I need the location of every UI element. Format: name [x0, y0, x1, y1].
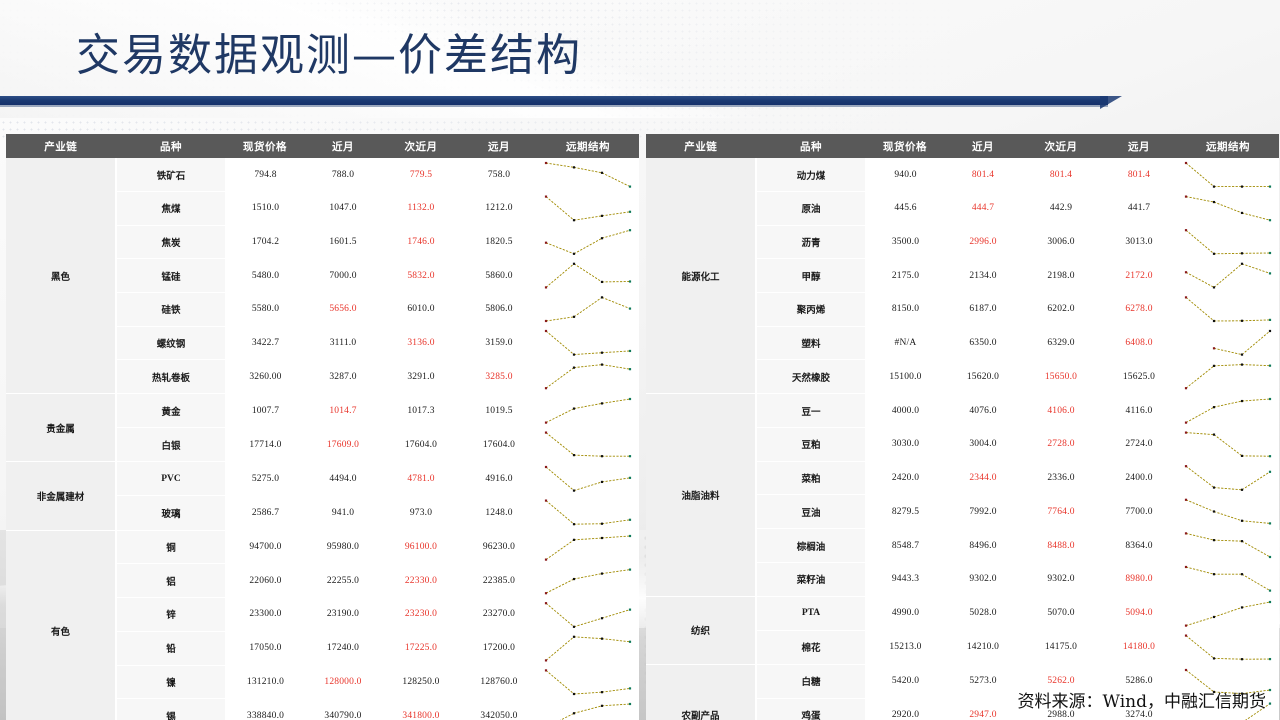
price-cell-spot[interactable]: 2175.0 — [866, 259, 944, 293]
price-cell-spot[interactable]: #N/A — [866, 326, 944, 360]
sparkline-marker — [573, 490, 575, 492]
price-cell-sub-far[interactable]: 96100.0 — [382, 530, 460, 564]
sparkline-marker — [1185, 634, 1187, 636]
table-row[interactable]: 非金属建材PVC5275.04494.04781.04916.0 — [6, 462, 638, 496]
price-cell-spot[interactable]: 5420.0 — [866, 664, 944, 698]
price-cell-far[interactable]: 4916.0 — [460, 462, 538, 496]
price-cell-far[interactable]: 5094.0 — [1100, 596, 1178, 630]
sparkline-segment — [1214, 607, 1242, 617]
sparkline-marker — [629, 455, 631, 457]
sparkline-marker — [1185, 195, 1187, 197]
variety-cell[interactable]: 白糖 — [756, 664, 866, 698]
sparkline-segment — [574, 365, 602, 368]
price-cell-near[interactable]: 2134.0 — [944, 259, 1022, 293]
sparkline-marker — [545, 242, 547, 244]
price-cell-near[interactable]: 3004.0 — [944, 427, 1022, 461]
variety-cell[interactable]: 热轧卷板 — [116, 360, 226, 394]
col-header-structure[interactable]: 远期结构 — [538, 134, 638, 158]
price-cell-far[interactable]: 2400.0 — [1100, 461, 1178, 495]
variety-cell[interactable]: 镍 — [116, 665, 226, 699]
price-cell-far[interactable]: 96230.0 — [460, 530, 538, 564]
sparkline-marker — [573, 692, 575, 694]
price-cell-sub-far[interactable]: 2728.0 — [1022, 427, 1100, 461]
price-cell-far[interactable]: 8364.0 — [1100, 529, 1178, 563]
col-header-variety[interactable]: 品种 — [116, 134, 226, 158]
sparkline-marker — [629, 640, 631, 642]
price-spread-table-left: 产业链 品种 现货价格 近月 次近月 远月 远期结构 黑色铁矿石794.8788… — [6, 134, 639, 720]
price-cell-sub-far[interactable]: 1132.0 — [382, 192, 460, 226]
sparkline-marker — [601, 352, 603, 354]
variety-cell[interactable]: 原油 — [756, 192, 866, 226]
sparkline-marker — [1185, 229, 1187, 231]
price-cell-spot[interactable]: 5580.0 — [226, 293, 304, 327]
variety-cell[interactable]: 豆粕 — [756, 427, 866, 461]
sparkline-segment — [546, 409, 574, 423]
price-cell-near[interactable]: 5273.0 — [944, 664, 1022, 698]
price-cell-far[interactable]: 1248.0 — [460, 496, 538, 530]
sparkline-marker — [1185, 432, 1187, 434]
sparkline-marker — [573, 263, 575, 265]
variety-cell[interactable]: 焦煤 — [116, 192, 226, 226]
sparkline-segment — [1214, 658, 1242, 659]
price-cell-spot[interactable]: 338840.0 — [226, 699, 304, 720]
sparkline-marker — [601, 523, 603, 525]
sparkline-segment — [1214, 488, 1242, 490]
col-header-structure[interactable]: 远期结构 — [1178, 134, 1278, 158]
sparkline-marker — [1213, 253, 1215, 255]
variety-cell[interactable]: PTA — [756, 596, 866, 630]
sparkline-marker — [629, 398, 631, 400]
price-cell-spot[interactable]: 5480.0 — [226, 259, 304, 293]
price-cell-spot[interactable]: 1510.0 — [226, 192, 304, 226]
price-cell-spot[interactable]: 131210.0 — [226, 665, 304, 699]
sparkline-marker — [573, 219, 575, 221]
price-cell-far[interactable]: 1820.5 — [460, 225, 538, 259]
price-cell-far[interactable]: 6278.0 — [1100, 293, 1178, 327]
price-cell-near[interactable]: 6187.0 — [944, 293, 1022, 327]
sparkline-marker — [545, 286, 547, 288]
price-cell-spot[interactable]: 22060.0 — [226, 564, 304, 598]
price-cell-spot[interactable]: 17050.0 — [226, 631, 304, 665]
price-cell-sub-far[interactable]: 801.4 — [1022, 158, 1100, 192]
sparkline-segment — [574, 692, 602, 694]
sparkline-marker — [1241, 363, 1243, 365]
sparkline-marker — [1269, 601, 1271, 603]
variety-cell[interactable]: 豆油 — [756, 495, 866, 529]
sparkline-segment — [1186, 617, 1214, 626]
price-cell-near[interactable]: 95980.0 — [304, 530, 382, 564]
price-cell-near[interactable]: 15620.0 — [944, 360, 1022, 394]
variety-cell[interactable]: 锡 — [116, 699, 226, 720]
sparkline-marker — [1241, 540, 1243, 542]
variety-cell[interactable]: 玻璃 — [116, 496, 226, 530]
price-cell-sub-far[interactable]: 3006.0 — [1022, 225, 1100, 259]
price-cell-near[interactable]: 941.0 — [304, 496, 382, 530]
forward-structure-cell — [538, 394, 638, 462]
variety-cell[interactable]: 天然橡胶 — [756, 360, 866, 394]
sparkline-segment — [1214, 202, 1242, 213]
price-cell-far[interactable]: 801.4 — [1100, 158, 1178, 192]
price-cell-spot[interactable]: 5275.0 — [226, 462, 304, 496]
price-cell-sub-far[interactable]: 14175.0 — [1022, 630, 1100, 664]
variety-cell[interactable]: 菜籽油 — [756, 563, 866, 597]
variety-cell[interactable]: 棕榈油 — [756, 529, 866, 563]
variety-cell[interactable]: 铜 — [116, 530, 226, 564]
industry-chain-cell[interactable]: 有色 — [6, 530, 116, 720]
price-cell-sub-far[interactable]: 7764.0 — [1022, 495, 1100, 529]
variety-cell[interactable]: 豆一 — [756, 394, 866, 428]
sparkline-segment — [574, 573, 602, 578]
sparkline-marker — [1241, 185, 1243, 187]
price-cell-near[interactable]: 3287.0 — [304, 360, 382, 394]
col-header-subfar[interactable]: 次近月 — [382, 134, 460, 158]
price-cell-near[interactable]: 4494.0 — [304, 462, 382, 496]
price-cell-near[interactable]: 2947.0 — [944, 698, 1022, 720]
sparkline-segment — [1186, 534, 1214, 541]
variety-cell[interactable]: 甲醇 — [756, 259, 866, 293]
price-cell-spot[interactable]: 1704.2 — [226, 225, 304, 259]
price-cell-far[interactable]: 2724.0 — [1100, 427, 1178, 461]
price-cell-near[interactable]: 2996.0 — [944, 225, 1022, 259]
forward-curve-sparkline-group — [538, 531, 638, 720]
price-cell-far[interactable]: 22385.0 — [460, 564, 538, 598]
variety-cell[interactable]: 聚丙烯 — [756, 293, 866, 327]
price-cell-spot[interactable]: 15213.0 — [866, 630, 944, 664]
sparkline-segment — [1186, 433, 1214, 435]
variety-cell[interactable]: 焦炭 — [116, 225, 226, 259]
price-cell-sub-far[interactable]: 15650.0 — [1022, 360, 1100, 394]
price-cell-near[interactable]: 444.7 — [944, 192, 1022, 226]
variety-cell[interactable]: 铝 — [116, 564, 226, 598]
price-cell-far[interactable]: 1212.0 — [460, 192, 538, 226]
sparkline-marker — [601, 572, 603, 574]
sparkline-marker — [629, 608, 631, 610]
price-cell-near[interactable]: 7000.0 — [304, 259, 382, 293]
sparkline-marker — [545, 592, 547, 594]
table-row[interactable]: 贵金属黄金1007.71014.71017.31019.5 — [6, 394, 638, 428]
price-cell-far[interactable]: 4116.0 — [1100, 394, 1178, 428]
variety-cell[interactable]: 塑料 — [756, 326, 866, 360]
sparkline-marker — [545, 387, 547, 389]
table-row[interactable]: 黑色铁矿石794.8788.0779.5758.0 — [6, 158, 638, 192]
price-cell-near[interactable]: 2344.0 — [944, 461, 1022, 495]
price-cell-near[interactable]: 1014.7 — [304, 394, 382, 428]
price-cell-far[interactable]: 342050.0 — [460, 699, 538, 720]
price-cell-spot[interactable]: 940.0 — [866, 158, 944, 192]
sparkline-marker — [545, 500, 547, 502]
sparkline-segment — [574, 264, 602, 282]
price-cell-spot[interactable]: 3500.0 — [866, 225, 944, 259]
price-cell-spot[interactable]: 4990.0 — [866, 596, 944, 630]
sparkline-marker — [601, 637, 603, 639]
price-cell-sub-far[interactable]: 4781.0 — [382, 462, 460, 496]
variety-cell[interactable]: 黄金 — [116, 394, 226, 428]
variety-cell[interactable]: 鸡蛋 — [756, 698, 866, 720]
price-cell-spot[interactable]: 9443.3 — [866, 563, 944, 597]
price-cell-spot[interactable]: 15100.0 — [866, 360, 944, 394]
price-cell-far[interactable]: 17200.0 — [460, 631, 538, 665]
variety-cell[interactable]: 铁矿石 — [116, 158, 226, 192]
price-cell-sub-far[interactable]: 973.0 — [382, 496, 460, 530]
price-cell-near[interactable]: 4076.0 — [944, 394, 1022, 428]
price-cell-sub-far[interactable]: 3291.0 — [382, 360, 460, 394]
sparkline-marker — [573, 538, 575, 540]
variety-cell[interactable]: 锰硅 — [116, 259, 226, 293]
sparkline-segment — [602, 212, 630, 216]
industry-chain-cell[interactable]: 黑色 — [6, 158, 116, 394]
price-cell-far[interactable]: 3159.0 — [460, 326, 538, 360]
price-cell-near[interactable]: 5656.0 — [304, 293, 382, 327]
price-cell-near[interactable]: 14210.0 — [944, 630, 1022, 664]
price-cell-spot[interactable]: 2420.0 — [866, 461, 944, 495]
variety-cell[interactable]: 铅 — [116, 631, 226, 665]
variety-cell[interactable]: 沥青 — [756, 225, 866, 259]
industry-chain-cell[interactable]: 油脂油料 — [646, 394, 756, 597]
sparkline-segment — [1242, 264, 1270, 274]
price-cell-near[interactable]: 9302.0 — [944, 563, 1022, 597]
price-cell-sub-far[interactable]: 341800.0 — [382, 699, 460, 720]
price-cell-far[interactable]: 7700.0 — [1100, 495, 1178, 529]
industry-chain-cell[interactable]: 非金属建材 — [6, 462, 116, 530]
price-cell-near[interactable]: 22255.0 — [304, 564, 382, 598]
sparkline-segment — [602, 704, 630, 706]
col-header-far[interactable]: 远月 — [1100, 134, 1178, 158]
industry-chain-cell[interactable]: 贵金属 — [6, 394, 116, 462]
sparkline-marker — [1213, 406, 1215, 408]
price-cell-sub-far[interactable]: 5832.0 — [382, 259, 460, 293]
col-header-far[interactable]: 远月 — [460, 134, 538, 158]
price-cell-far[interactable]: 1019.5 — [460, 394, 538, 428]
sparkline-marker — [601, 402, 603, 404]
sparkline-segment — [1186, 366, 1214, 388]
price-cell-sub-far[interactable]: 1746.0 — [382, 225, 460, 259]
col-header-spot[interactable]: 现货价格 — [866, 134, 944, 158]
sparkline-segment — [1186, 272, 1214, 287]
sparkline-marker — [1185, 465, 1187, 467]
price-cell-far[interactable]: 8980.0 — [1100, 563, 1178, 597]
price-cell-far[interactable]: 3013.0 — [1100, 225, 1178, 259]
sparkline-marker — [1185, 296, 1187, 298]
col-header-chain[interactable]: 产业链 — [6, 134, 116, 158]
price-cell-near[interactable]: 1047.0 — [304, 192, 382, 226]
sparkline-marker — [629, 229, 631, 231]
variety-cell[interactable]: 动力煤 — [756, 158, 866, 192]
col-header-variety[interactable]: 品种 — [756, 134, 866, 158]
price-cell-spot[interactable]: 2920.0 — [866, 698, 944, 720]
price-cell-spot[interactable]: 94700.0 — [226, 530, 304, 564]
sparkline-marker — [545, 669, 547, 671]
price-cell-far[interactable]: 758.0 — [460, 158, 538, 192]
sparkline-segment — [546, 331, 574, 355]
price-cell-far[interactable]: 15625.0 — [1100, 360, 1178, 394]
forward-structure-cell — [1178, 596, 1278, 664]
variety-cell[interactable]: PVC — [116, 462, 226, 496]
sparkline-marker — [601, 536, 603, 538]
sparkline-marker — [545, 422, 547, 424]
price-cell-sub-far[interactable]: 2198.0 — [1022, 259, 1100, 293]
price-cell-near[interactable]: 801.4 — [944, 158, 1022, 192]
sparkline-marker — [573, 353, 575, 355]
sparkline-segment — [1242, 213, 1270, 220]
price-cell-sub-far[interactable]: 6329.0 — [1022, 326, 1100, 360]
sparkline-segment — [1214, 348, 1242, 354]
sparkline-segment — [602, 520, 630, 524]
sparkline-marker — [601, 363, 603, 365]
price-cell-far[interactable]: 5806.0 — [460, 293, 538, 327]
sparkline-marker — [1185, 422, 1187, 424]
price-cell-near[interactable]: 5028.0 — [944, 596, 1022, 630]
price-cell-near[interactable]: 6350.0 — [944, 326, 1022, 360]
price-cell-spot[interactable]: 794.8 — [226, 158, 304, 192]
sparkline-marker — [573, 253, 575, 255]
price-cell-spot[interactable]: 8279.5 — [866, 495, 944, 529]
price-cell-near[interactable]: 17240.0 — [304, 631, 382, 665]
sparkline-marker — [545, 602, 547, 604]
forward-curve-sparkline-group — [1178, 394, 1278, 596]
price-cell-spot[interactable]: 1007.7 — [226, 394, 304, 428]
price-cell-sub-far[interactable]: 8488.0 — [1022, 529, 1100, 563]
forward-curve-sparkline-group — [1178, 158, 1278, 393]
price-cell-near[interactable]: 340790.0 — [304, 699, 382, 720]
price-cell-spot[interactable]: 17714.0 — [226, 428, 304, 462]
sparkline-marker — [1213, 511, 1215, 513]
sparkline-segment — [546, 264, 574, 288]
industry-chain-cell[interactable]: 纺织 — [646, 596, 756, 664]
sparkline-marker — [1269, 702, 1271, 704]
sparkline-segment — [602, 399, 630, 403]
sparkline-segment — [574, 482, 602, 491]
sparkline-segment — [574, 353, 602, 355]
forward-curve-sparkline-group — [1178, 597, 1278, 664]
title-divider-tail — [1100, 96, 1122, 109]
sparkline-segment — [574, 297, 602, 316]
price-cell-sub-far[interactable]: 4106.0 — [1022, 394, 1100, 428]
sparkline-marker — [1213, 320, 1215, 322]
sparkline-marker — [1213, 365, 1215, 367]
price-cell-near[interactable]: 128000.0 — [304, 665, 382, 699]
variety-cell[interactable]: 硅铁 — [116, 293, 226, 327]
sparkline-marker — [629, 687, 631, 689]
price-cell-far[interactable]: 2172.0 — [1100, 259, 1178, 293]
price-cell-far[interactable]: 6408.0 — [1100, 326, 1178, 360]
price-cell-sub-far[interactable]: 128250.0 — [382, 665, 460, 699]
price-cell-near[interactable]: 8496.0 — [944, 529, 1022, 563]
sparkline-segment — [546, 579, 574, 593]
price-cell-near[interactable]: 23190.0 — [304, 598, 382, 632]
table-row[interactable]: 纺织PTA4990.05028.05070.05094.0 — [646, 596, 1278, 630]
price-cell-sub-far[interactable]: 9302.0 — [1022, 563, 1100, 597]
industry-chain-cell[interactable]: 农副产品 — [646, 664, 756, 720]
price-cell-far[interactable]: 128760.0 — [460, 665, 538, 699]
sparkline-marker — [545, 558, 547, 560]
price-cell-sub-far[interactable]: 22330.0 — [382, 564, 460, 598]
price-cell-far[interactable]: 14180.0 — [1100, 630, 1178, 664]
sparkline-segment — [546, 670, 574, 694]
sparkline-marker — [1269, 365, 1271, 367]
sparkline-marker — [1185, 624, 1187, 626]
sparkline-segment — [1214, 435, 1242, 456]
sparkline-segment — [574, 538, 602, 540]
price-cell-far[interactable]: 23270.0 — [460, 598, 538, 632]
sparkline-marker — [601, 455, 603, 457]
variety-cell[interactable]: 螺纹钢 — [116, 326, 226, 360]
price-cell-far[interactable]: 3285.0 — [460, 360, 538, 394]
price-cell-near[interactable]: 788.0 — [304, 158, 382, 192]
sparkline-marker — [1241, 658, 1243, 660]
table-row[interactable]: 油脂油料豆一4000.04076.04106.04116.0 — [646, 394, 1278, 428]
price-cell-spot[interactable]: 2586.7 — [226, 496, 304, 530]
sparkline-segment — [1186, 197, 1214, 202]
industry-chain-cell[interactable]: 能源化工 — [646, 158, 756, 394]
sparkline-segment — [1214, 401, 1242, 407]
price-cell-far[interactable]: 17604.0 — [460, 428, 538, 462]
price-cell-sub-far[interactable]: 17604.0 — [382, 428, 460, 462]
price-cell-spot[interactable]: 8548.7 — [866, 529, 944, 563]
price-cell-sub-far[interactable]: 6202.0 — [1022, 293, 1100, 327]
sparkline-marker — [573, 712, 575, 714]
variety-cell[interactable]: 菜粕 — [756, 461, 866, 495]
col-header-chain[interactable]: 产业链 — [646, 134, 756, 158]
sparkline-marker — [601, 691, 603, 693]
sparkline-segment — [546, 433, 574, 456]
variety-cell[interactable]: 锌 — [116, 598, 226, 632]
price-cell-sub-far[interactable]: 779.5 — [382, 158, 460, 192]
col-header-subfar[interactable]: 次近月 — [1022, 134, 1100, 158]
sparkline-segment — [602, 365, 630, 370]
price-cell-sub-far[interactable]: 1017.3 — [382, 394, 460, 428]
sparkline-segment — [602, 536, 630, 538]
price-cell-spot[interactable]: 23300.0 — [226, 598, 304, 632]
sparkline-marker — [545, 659, 547, 661]
price-cell-sub-far[interactable]: 5070.0 — [1022, 596, 1100, 630]
price-cell-spot[interactable]: 445.6 — [866, 192, 944, 226]
variety-cell[interactable]: 白银 — [116, 428, 226, 462]
price-cell-sub-far[interactable]: 17225.0 — [382, 631, 460, 665]
price-cell-near[interactable]: 3111.0 — [304, 326, 382, 360]
price-cell-sub-far[interactable]: 442.9 — [1022, 192, 1100, 226]
col-header-spot[interactable]: 现货价格 — [226, 134, 304, 158]
price-cell-spot[interactable]: 3260.00 — [226, 360, 304, 394]
sparkline-marker — [1269, 398, 1271, 400]
price-cell-spot[interactable]: 4000.0 — [866, 394, 944, 428]
sparkline-segment — [1214, 365, 1242, 366]
price-cell-sub-far[interactable]: 6010.0 — [382, 293, 460, 327]
sparkline-marker — [1241, 320, 1243, 322]
price-cell-spot[interactable]: 8150.0 — [866, 293, 944, 327]
sparkline-segment — [602, 569, 630, 573]
sparkline-segment — [546, 539, 574, 559]
sparkline-marker — [601, 281, 603, 283]
price-cell-near[interactable]: 17609.0 — [304, 428, 382, 462]
price-cell-far[interactable]: 441.7 — [1100, 192, 1178, 226]
variety-cell[interactable]: 棉花 — [756, 630, 866, 664]
col-header-near[interactable]: 近月 — [944, 134, 1022, 158]
price-cell-far[interactable]: 5860.0 — [460, 259, 538, 293]
price-cell-near[interactable]: 1601.5 — [304, 225, 382, 259]
price-cell-spot[interactable]: 3030.0 — [866, 427, 944, 461]
sparkline-marker — [629, 568, 631, 570]
sparkline-segment — [602, 638, 630, 641]
table-row[interactable]: 有色铜94700.095980.096100.096230.0 — [6, 530, 638, 564]
price-cell-spot[interactable]: 3422.7 — [226, 326, 304, 360]
sparkline-marker — [1269, 219, 1271, 221]
price-cell-sub-far[interactable]: 3136.0 — [382, 326, 460, 360]
price-cell-sub-far[interactable]: 2336.0 — [1022, 461, 1100, 495]
price-cell-near[interactable]: 7992.0 — [944, 495, 1022, 529]
price-cell-sub-far[interactable]: 23230.0 — [382, 598, 460, 632]
table-row[interactable]: 能源化工动力煤940.0801.4801.4801.4 — [646, 158, 1278, 192]
col-header-near[interactable]: 近月 — [304, 134, 382, 158]
